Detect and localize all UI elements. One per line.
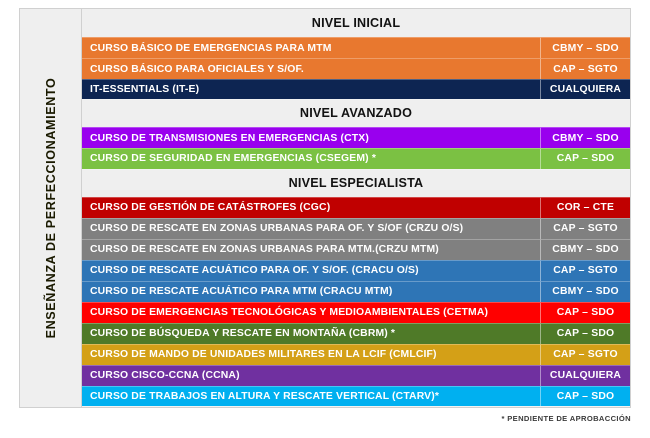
rank-requirement: CAP – SGTO [540,218,630,239]
section-header-nivel-especialista: NIVEL ESPECIALISTA [82,170,630,197]
course-name-curso-de-rescate-acuatico-para-mtm-cracu-mtm: CURSO DE RESCATE ACUÁTICO PARA MTM (CRAC… [82,281,540,302]
rank-requirement: CBMY – SDO [540,37,630,58]
rank-requirement: CUALQUIERA [540,365,630,386]
rank-requirement: CBMY – SDO [540,127,630,148]
rank-requirement: CAP – SDO [540,302,630,323]
rank-requirement: CBMY – SDO [540,281,630,302]
table-row[interactable]: CURSO BÁSICO PARA OFICIALES Y S/OF.CAP –… [82,58,630,79]
table-row[interactable]: CURSO DE GESTIÓN DE CATÁSTROFES (CGC)COR… [82,197,630,218]
course-name-curso-de-emergencias-tecnologicas-y-medioambient: CURSO DE EMERGENCIAS TECNOLÓGICAS Y MEDI… [82,302,540,323]
rank-requirement: CAP – SGTO [540,58,630,79]
course-name-curso-de-mando-de-unidades-militares-en-la-lcif-: CURSO DE MANDO DE UNIDADES MILITARES EN … [82,344,540,365]
course-name-curso-basico-para-oficiales-y-s-of: CURSO BÁSICO PARA OFICIALES Y S/OF. [82,58,540,79]
course-name-curso-de-busqueda-y-rescate-en-montana-cbrm: CURSO DE BÚSQUEDA Y RESCATE EN MONTAÑA (… [82,323,540,344]
course-name-it-essentials-it-e: IT-ESSENTIALS (IT-E) [82,79,540,99]
course-name-curso-de-trabajos-en-altura-y-rescate-vertical-c: CURSO DE TRABAJOS EN ALTURA Y RESCATE VE… [82,386,540,406]
rank-requirement: COR – CTE [540,197,630,218]
rank-requirement: CAP – SDO [540,148,630,168]
course-name-curso-de-transmisiones-en-emergencias-ctx: CURSO DE TRANSMISIONES EN EMERGENCIAS (C… [82,127,540,148]
table-row[interactable]: CURSO DE BÚSQUEDA Y RESCATE EN MONTAÑA (… [82,323,630,344]
table-row[interactable]: CURSO DE SEGURIDAD EN EMERGENCIAS (CSEGE… [82,148,630,169]
course-name-curso-de-rescate-en-zonas-urbanas-para-mtm-crzu-: CURSO DE RESCATE EN ZONAS URBANAS PARA M… [82,239,540,260]
course-name-curso-basico-de-emergencias-para-mtm: CURSO BÁSICO DE EMERGENCIAS PARA MTM [82,37,540,58]
page-root: ENSEÑANZA DE PERFECCIONAMIENTO NIVEL INI… [0,0,650,438]
sidebar-title: ENSEÑANZA DE PERFECCIONAMIENTO [44,78,58,339]
rank-requirement: CAP – SGTO [540,260,630,281]
table-row[interactable]: IT-ESSENTIALS (IT-E)CUALQUIERA [82,79,630,100]
rank-requirement: CBMY – SDO [540,239,630,260]
course-name-curso-de-rescate-en-zonas-urbanas-para-of-y-s-of: CURSO DE RESCATE EN ZONAS URBANAS PARA O… [82,218,540,239]
sidebar-vertical-banner: ENSEÑANZA DE PERFECCIONAMIENTO [20,9,82,407]
table-row[interactable]: CURSO DE RESCATE ACUÁTICO PARA OF. Y S/O… [82,260,630,281]
course-name-curso-cisco-ccna-ccna: CURSO CISCO-CCNA (CCNA) [82,365,540,386]
course-name-curso-de-rescate-acuatico-para-of-y-s-of-cracu-o: CURSO DE RESCATE ACUÁTICO PARA OF. Y S/O… [82,260,540,281]
table-row[interactable]: CURSO DE RESCATE EN ZONAS URBANAS PARA M… [82,239,630,260]
table-row[interactable]: CURSO DE TRABAJOS EN ALTURA Y RESCATE VE… [82,386,630,407]
table-row[interactable]: CURSO DE RESCATE EN ZONAS URBANAS PARA O… [82,218,630,239]
table-row[interactable]: CURSO DE MANDO DE UNIDADES MILITARES EN … [82,344,630,365]
courses-table: NIVEL INICIALCURSO BÁSICO DE EMERGENCIAS… [82,9,630,407]
section-header-nivel-inicial: NIVEL INICIAL [82,9,630,37]
table-row[interactable]: CURSO BÁSICO DE EMERGENCIAS PARA MTMCBMY… [82,37,630,58]
table-row[interactable]: CURSO DE RESCATE ACUÁTICO PARA MTM (CRAC… [82,281,630,302]
rank-requirement: CAP – SGTO [540,344,630,365]
courses-table-frame: ENSEÑANZA DE PERFECCIONAMIENTO NIVEL INI… [19,8,631,408]
course-name-curso-de-seguridad-en-emergencias-csegem: CURSO DE SEGURIDAD EN EMERGENCIAS (CSEGE… [82,148,540,168]
table-row[interactable]: CURSO DE EMERGENCIAS TECNOLÓGICAS Y MEDI… [82,302,630,323]
section-header-nivel-avanzado: NIVEL AVANZADO [82,100,630,127]
course-name-curso-de-gestion-de-catastrofes-cgc: CURSO DE GESTIÓN DE CATÁSTROFES (CGC) [82,197,540,218]
rank-requirement: CAP – SDO [540,323,630,344]
table-row[interactable]: CURSO DE TRANSMISIONES EN EMERGENCIAS (C… [82,127,630,148]
rank-requirement: CAP – SDO [540,386,630,406]
table-row[interactable]: CURSO CISCO-CCNA (CCNA)CUALQUIERA [82,365,630,386]
rank-requirement: CUALQUIERA [540,79,630,99]
footnote-pending-approval: * PENDIENTE DE APROBACCIÓN [502,414,632,423]
